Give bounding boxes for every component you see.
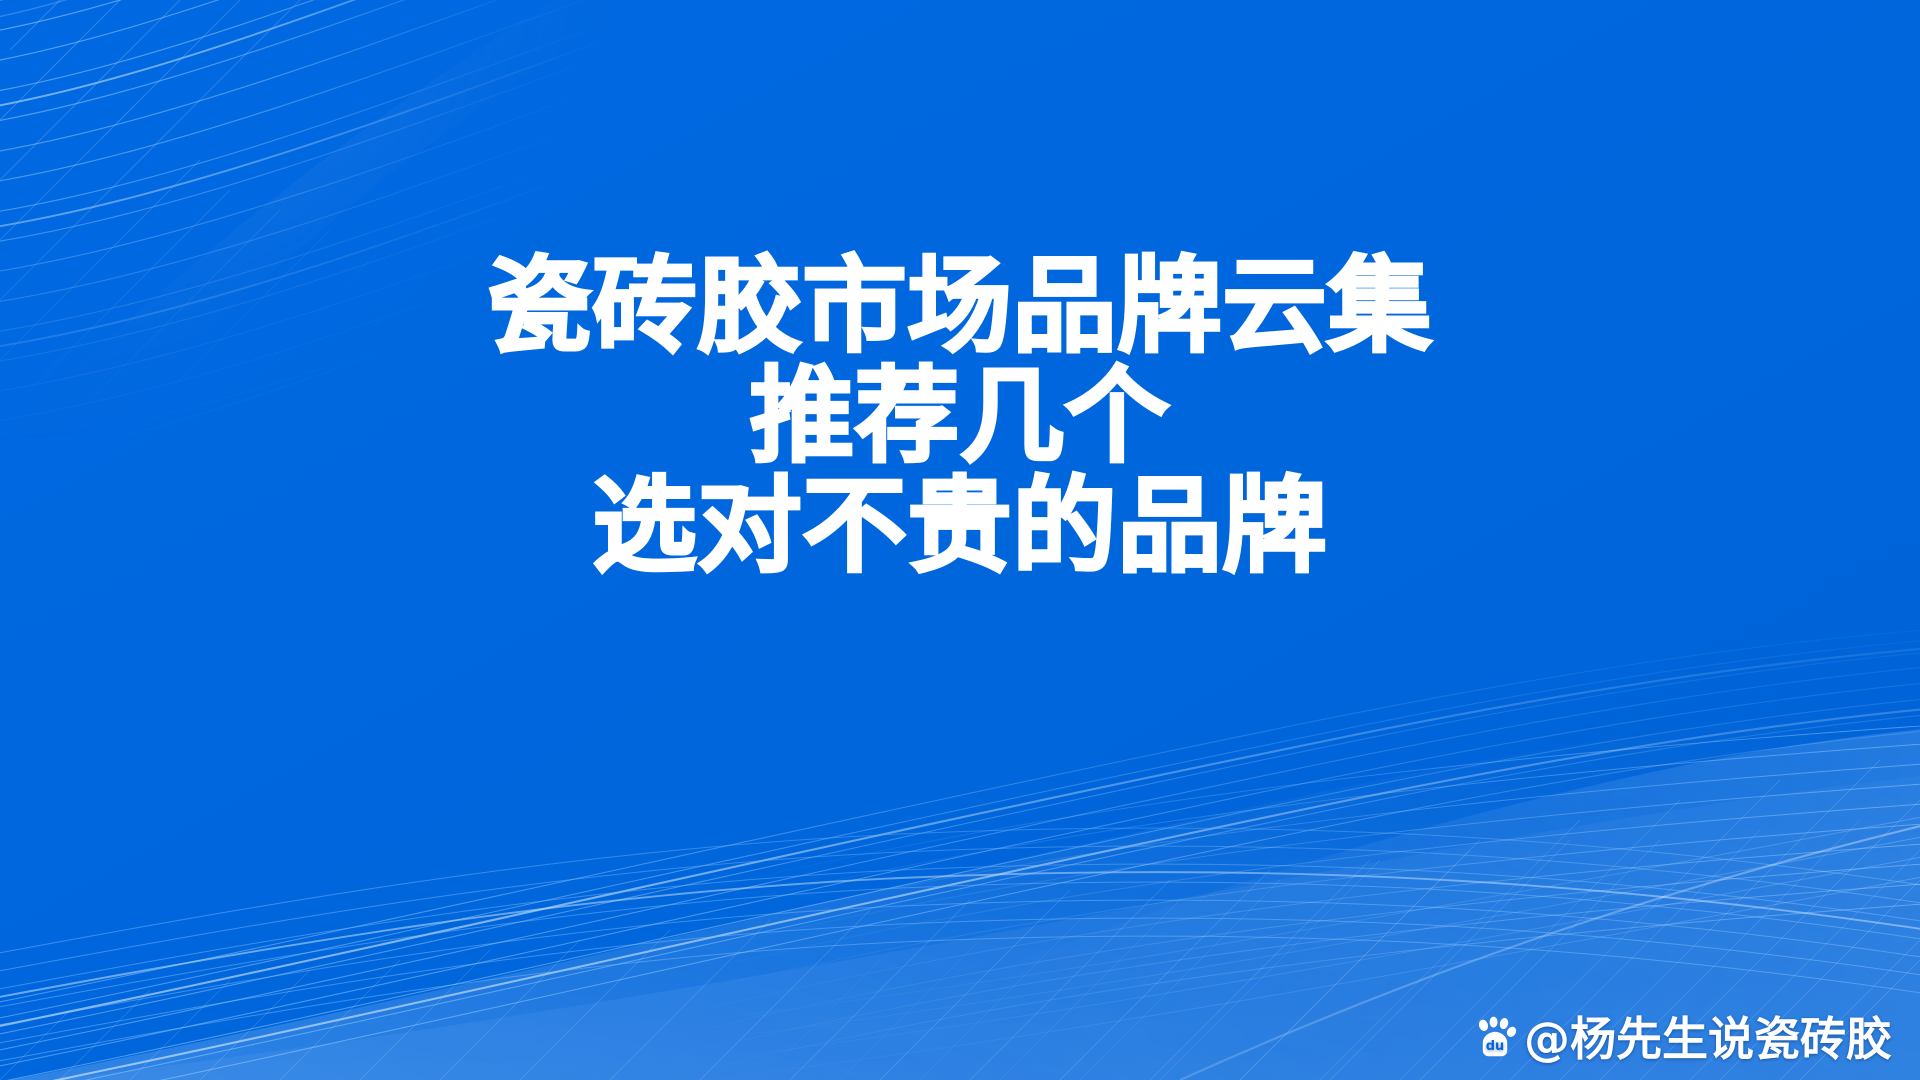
headline-line-1: 瓷砖胶市场品牌云集: [0, 252, 1920, 362]
headline-line-2: 推荐几个: [0, 362, 1920, 472]
poster-canvas: 瓷砖胶市场品牌云集 推荐几个 选对不贵的品牌 du @杨先生说瓷砖胶: [0, 0, 1920, 1080]
headline-line-3: 选对不贵的品牌: [0, 472, 1920, 582]
watermark-handle: @杨先生说瓷砖胶: [1524, 1016, 1892, 1062]
paw-logo-text: du: [1486, 1039, 1504, 1054]
baidu-paw-icon: du: [1472, 1016, 1518, 1062]
page-title: 瓷砖胶市场品牌云集 推荐几个 选对不贵的品牌: [0, 252, 1920, 582]
watermark: du @杨先生说瓷砖胶: [1472, 1016, 1892, 1062]
